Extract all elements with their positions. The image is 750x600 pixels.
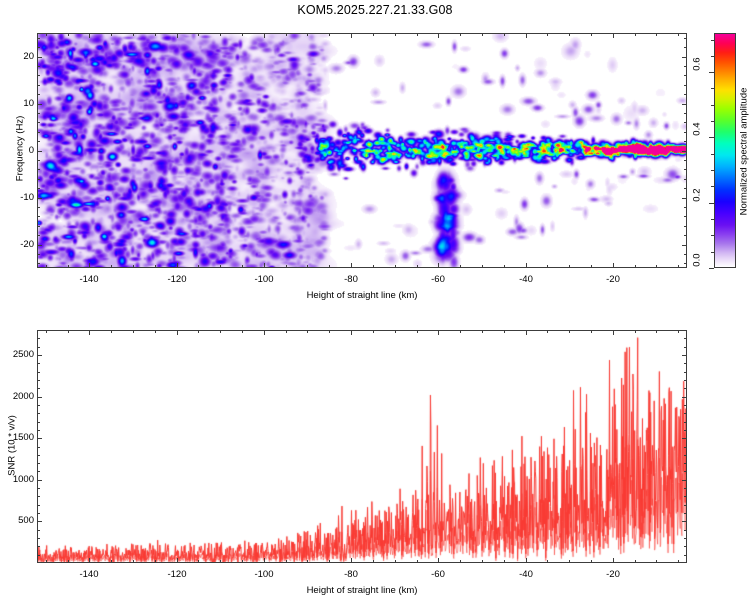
y-tick-label: 20 [0, 51, 34, 62]
colorbar-tick [709, 268, 714, 269]
axis-tick [286, 33, 287, 36]
axis-tick [684, 113, 687, 114]
axis-tick [307, 330, 308, 333]
axis-tick [417, 33, 418, 36]
axis-tick [307, 560, 308, 563]
axis-tick [37, 397, 42, 398]
axis-tick [46, 560, 47, 563]
axis-tick [373, 560, 374, 563]
axis-tick [569, 265, 570, 268]
colorbar [714, 33, 736, 268]
axis-tick [46, 330, 47, 333]
snr-panel [37, 330, 687, 563]
axis-tick [656, 560, 657, 563]
axis-tick [37, 363, 40, 364]
axis-tick [635, 330, 636, 333]
axis-tick [684, 47, 687, 48]
axis-tick [37, 94, 40, 95]
axis-tick [37, 347, 40, 348]
axis-tick [682, 521, 687, 522]
axis-tick [37, 216, 40, 217]
colorbar-minor-tick [711, 88, 714, 89]
axis-tick [684, 169, 687, 170]
axis-tick [591, 33, 592, 36]
axis-tick [684, 235, 687, 236]
axis-tick [684, 455, 687, 456]
axis-tick [37, 245, 42, 246]
axis-tick [482, 560, 483, 563]
y-tick-label: 500 [0, 515, 34, 526]
axis-tick [635, 33, 636, 36]
axis-tick [684, 122, 687, 123]
axis-tick [37, 471, 40, 472]
axis-tick [438, 558, 439, 563]
axis-tick [417, 330, 418, 333]
axis-tick [133, 560, 134, 563]
axis-tick [198, 33, 199, 36]
axis-tick [482, 33, 483, 36]
axis-tick [37, 380, 40, 381]
axis-tick [684, 160, 687, 161]
axis-tick [177, 33, 178, 38]
y-tick-label: 2500 [0, 349, 34, 360]
axis-tick [635, 560, 636, 563]
x-tick-label: -80 [331, 569, 371, 580]
axis-tick [264, 330, 265, 335]
x-tick-label: -20 [593, 274, 633, 285]
axis-tick [684, 207, 687, 208]
axis-tick [220, 33, 221, 36]
axis-tick [37, 160, 40, 161]
axis-tick [37, 488, 40, 489]
x-tick-label: -80 [331, 274, 371, 285]
axis-tick [684, 388, 687, 389]
axis-tick [37, 132, 40, 133]
axis-tick [220, 265, 221, 268]
axis-tick [684, 94, 687, 95]
axis-tick [351, 263, 352, 268]
axis-tick [460, 560, 461, 563]
axis-tick [133, 33, 134, 36]
axis-tick [613, 263, 614, 268]
figure-title: KOM5.2025.227.21.33.G08 [0, 3, 750, 17]
axis-tick [68, 33, 69, 36]
snr-ylabel: SNR (10 * v/v) [7, 386, 18, 506]
axis-tick [37, 496, 40, 497]
axis-tick [111, 560, 112, 563]
axis-tick [198, 560, 199, 563]
axis-tick [684, 363, 687, 364]
x-tick-label: -140 [69, 569, 109, 580]
axis-tick [678, 560, 679, 563]
colorbar-tick [709, 72, 714, 73]
axis-tick [198, 265, 199, 268]
axis-tick [684, 471, 687, 472]
colorbar-minor-tick [711, 56, 714, 57]
axis-tick [684, 141, 687, 142]
axis-tick [37, 405, 40, 406]
x-tick-label: -40 [506, 569, 546, 580]
axis-tick [68, 330, 69, 333]
axis-tick [37, 546, 40, 547]
axis-tick [37, 169, 40, 170]
axis-tick [68, 265, 69, 268]
axis-tick [591, 330, 592, 333]
axis-tick [613, 330, 614, 335]
axis-tick [46, 265, 47, 268]
axis-tick [526, 33, 527, 38]
axis-tick [242, 560, 243, 563]
axis-tick [684, 216, 687, 217]
x-tick-label: -140 [69, 274, 109, 285]
colorbar-minor-tick [711, 170, 714, 171]
axis-tick [656, 265, 657, 268]
axis-tick [286, 265, 287, 268]
colorbar-minor-tick [711, 219, 714, 220]
spectrogram-canvas [38, 34, 687, 268]
axis-tick [684, 347, 687, 348]
axis-tick [678, 33, 679, 36]
axis-tick [395, 33, 396, 36]
axis-tick [684, 75, 687, 76]
axis-tick [264, 558, 265, 563]
axis-tick [155, 560, 156, 563]
axis-tick [569, 330, 570, 333]
colorbar-minor-tick [711, 235, 714, 236]
axis-tick [684, 226, 687, 227]
axis-tick [111, 33, 112, 36]
axis-tick [37, 254, 40, 255]
axis-tick [684, 132, 687, 133]
axis-tick [547, 560, 548, 563]
axis-tick [569, 33, 570, 36]
axis-tick [656, 330, 657, 333]
axis-tick [37, 75, 40, 76]
axis-tick [684, 488, 687, 489]
axis-tick [37, 151, 42, 152]
axis-tick [37, 388, 40, 389]
axis-tick [46, 33, 47, 36]
colorbar-minor-tick [711, 121, 714, 122]
axis-tick [684, 38, 687, 39]
axis-tick [684, 422, 687, 423]
spectrogram-ylabel: Frequency (Hz) [15, 89, 26, 209]
axis-tick [111, 330, 112, 333]
axis-tick [177, 330, 178, 335]
axis-tick [37, 263, 40, 264]
colorbar-minor-tick [711, 186, 714, 187]
axis-tick [417, 560, 418, 563]
axis-tick [89, 330, 90, 335]
axis-tick [37, 226, 40, 227]
snr-canvas [38, 331, 687, 563]
x-tick-label: -100 [244, 569, 284, 580]
axis-tick [329, 265, 330, 268]
axis-tick [351, 330, 352, 335]
colorbar-tick [709, 137, 714, 138]
colorbar-minor-tick [711, 154, 714, 155]
axis-tick [504, 330, 505, 333]
axis-tick [504, 560, 505, 563]
axis-tick [68, 560, 69, 563]
axis-tick [37, 480, 42, 481]
axis-tick [682, 438, 687, 439]
axis-tick [591, 265, 592, 268]
axis-tick [286, 330, 287, 333]
axis-tick [37, 413, 40, 414]
axis-tick [220, 330, 221, 333]
axis-tick [684, 372, 687, 373]
axis-tick [37, 555, 40, 556]
axis-tick [684, 85, 687, 86]
axis-tick [684, 66, 687, 67]
axis-tick [37, 113, 40, 114]
y-tick-label: -20 [0, 239, 34, 250]
axis-tick [656, 33, 657, 36]
axis-tick [89, 558, 90, 563]
axis-tick [37, 179, 40, 180]
axis-tick [460, 33, 461, 36]
axis-tick [37, 355, 42, 356]
colorbar-minor-tick [711, 40, 714, 41]
axis-tick [504, 33, 505, 36]
axis-tick [395, 330, 396, 333]
axis-tick [684, 463, 687, 464]
axis-tick [37, 38, 40, 39]
axis-tick [37, 505, 40, 506]
axis-tick [635, 265, 636, 268]
axis-tick [684, 263, 687, 264]
x-tick-label: -60 [418, 569, 458, 580]
axis-tick [37, 430, 40, 431]
axis-tick [684, 555, 687, 556]
axis-tick [684, 505, 687, 506]
colorbar-tick-label: 0.0 [692, 254, 703, 280]
axis-tick [329, 560, 330, 563]
axis-tick [569, 560, 570, 563]
colorbar-tick-label: 0.2 [692, 189, 703, 215]
axis-tick [684, 254, 687, 255]
axis-tick [37, 47, 40, 48]
axis-tick [307, 33, 308, 36]
axis-tick [504, 265, 505, 268]
axis-tick [351, 33, 352, 38]
axis-tick [526, 330, 527, 335]
axis-tick [684, 405, 687, 406]
axis-tick [684, 447, 687, 448]
axis-tick [684, 188, 687, 189]
axis-tick [37, 104, 42, 105]
axis-tick [682, 198, 687, 199]
axis-tick [547, 265, 548, 268]
axis-tick [37, 455, 40, 456]
axis-tick [460, 265, 461, 268]
axis-tick [373, 265, 374, 268]
axis-tick [37, 188, 40, 189]
axis-tick [682, 480, 687, 481]
axis-tick [684, 430, 687, 431]
axis-tick [198, 330, 199, 333]
axis-tick [37, 513, 40, 514]
axis-tick [684, 338, 687, 339]
axis-tick [177, 263, 178, 268]
axis-tick [37, 141, 40, 142]
axis-tick [155, 33, 156, 36]
axis-tick [37, 447, 40, 448]
axis-tick [438, 330, 439, 335]
axis-tick [133, 265, 134, 268]
axis-tick [220, 560, 221, 563]
axis-tick [329, 33, 330, 36]
axis-tick [682, 355, 687, 356]
axis-tick [373, 33, 374, 36]
axis-tick [684, 546, 687, 547]
axis-tick [37, 338, 40, 339]
axis-tick [682, 151, 687, 152]
axis-tick [395, 560, 396, 563]
axis-tick [351, 558, 352, 563]
axis-tick [684, 380, 687, 381]
axis-tick [37, 122, 40, 123]
axis-tick [482, 265, 483, 268]
axis-tick [89, 263, 90, 268]
axis-tick [547, 330, 548, 333]
axis-tick [460, 330, 461, 333]
x-tick-label: -120 [157, 274, 197, 285]
axis-tick [329, 330, 330, 333]
spectrogram-xlabel: Height of straight line (km) [0, 290, 724, 301]
axis-tick [89, 33, 90, 38]
axis-tick [526, 263, 527, 268]
axis-tick [684, 538, 687, 539]
axis-tick [155, 265, 156, 268]
axis-tick [684, 530, 687, 531]
axis-tick [547, 33, 548, 36]
snr-xlabel: Height of straight line (km) [0, 585, 724, 596]
axis-tick [37, 85, 40, 86]
axis-tick [682, 104, 687, 105]
colorbar-tick-label: 0.4 [692, 123, 703, 149]
x-tick-label: -20 [593, 569, 633, 580]
axis-tick [395, 265, 396, 268]
axis-tick [684, 496, 687, 497]
colorbar-tick-label: 0.6 [692, 58, 703, 84]
axis-tick [242, 33, 243, 36]
axis-tick [264, 33, 265, 38]
axis-tick [591, 560, 592, 563]
x-tick-label: -120 [157, 569, 197, 580]
axis-tick [37, 521, 42, 522]
axis-tick [682, 57, 687, 58]
axis-tick [37, 422, 40, 423]
axis-tick [684, 513, 687, 514]
axis-tick [286, 560, 287, 563]
axis-tick [417, 265, 418, 268]
spectrogram-panel [37, 33, 687, 268]
colorbar-minor-tick [711, 252, 714, 253]
colorbar-title: Normalized spectral amplitude [739, 72, 750, 232]
x-tick-label: -40 [506, 274, 546, 285]
axis-tick [438, 33, 439, 38]
axis-tick [682, 397, 687, 398]
axis-tick [37, 66, 40, 67]
axis-tick [37, 530, 40, 531]
axis-tick [177, 558, 178, 563]
axis-tick [526, 558, 527, 563]
axis-tick [37, 438, 42, 439]
axis-tick [242, 265, 243, 268]
axis-tick [133, 330, 134, 333]
axis-tick [682, 245, 687, 246]
axis-tick [155, 330, 156, 333]
figure-root: KOM5.2025.227.21.33.G08 -140-120-100-80-… [0, 0, 750, 600]
axis-tick [613, 558, 614, 563]
axis-tick [678, 265, 679, 268]
colorbar-minor-tick [711, 105, 714, 106]
colorbar-tick [709, 203, 714, 204]
axis-tick [37, 235, 40, 236]
axis-tick [37, 198, 42, 199]
axis-tick [37, 538, 40, 539]
axis-tick [613, 33, 614, 38]
axis-tick [678, 330, 679, 333]
axis-tick [242, 330, 243, 333]
axis-tick [373, 330, 374, 333]
axis-tick [111, 265, 112, 268]
axis-tick [264, 263, 265, 268]
axis-tick [37, 207, 40, 208]
axis-tick [37, 463, 40, 464]
axis-tick [438, 263, 439, 268]
axis-tick [37, 57, 42, 58]
axis-tick [684, 413, 687, 414]
x-tick-label: -60 [418, 274, 458, 285]
x-tick-label: -100 [244, 274, 284, 285]
axis-tick [307, 265, 308, 268]
axis-tick [37, 372, 40, 373]
axis-tick [684, 179, 687, 180]
axis-tick [482, 330, 483, 333]
